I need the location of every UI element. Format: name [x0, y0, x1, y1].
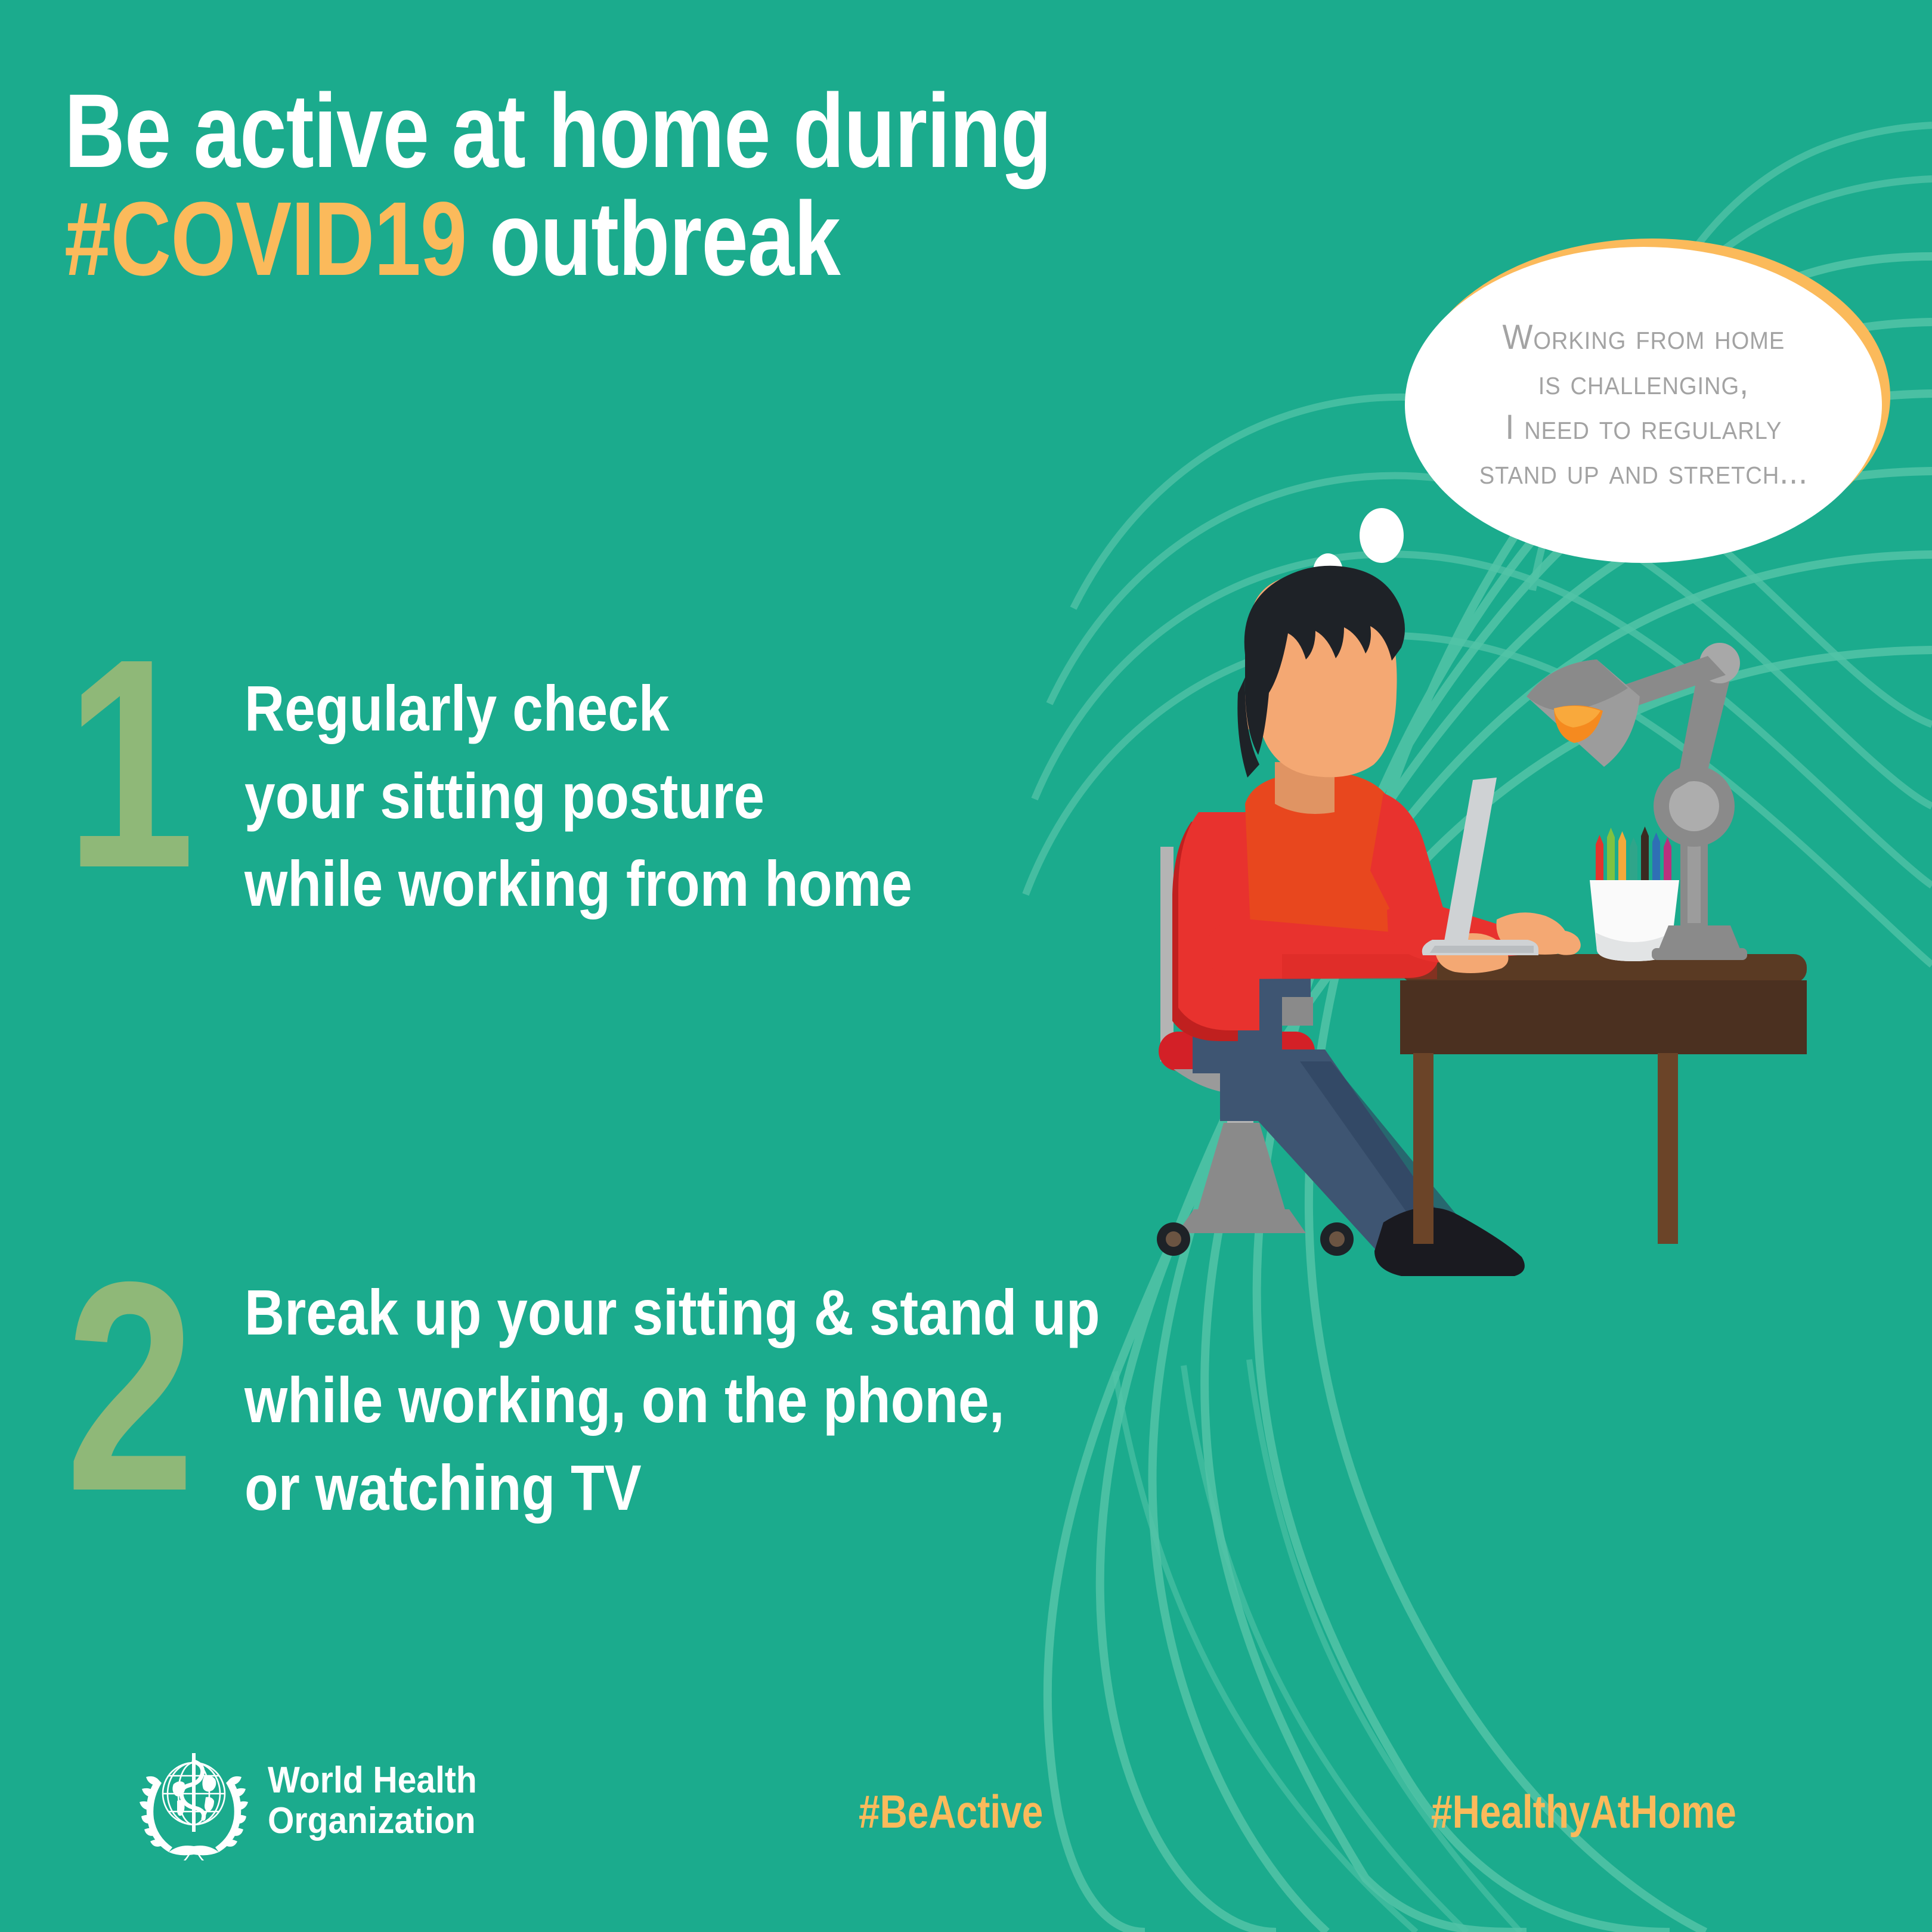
hashtag-beactive: #BeActive	[859, 1785, 1043, 1839]
tip-number-2: 2	[66, 1264, 200, 1509]
shoe	[1374, 1207, 1525, 1276]
tip-2-line-1: Break up your sitting & stand up	[244, 1269, 1100, 1357]
bubble-line-4: stand up and stretch...	[1479, 450, 1807, 494]
bubble-line-3: I need to regularly	[1479, 405, 1807, 450]
desk	[1400, 954, 1807, 1244]
infographic-poster: Be active at home during #COVID19 outbre…	[0, 0, 1932, 1932]
who-logo: World Health Organization	[134, 1741, 495, 1860]
tip-item-2: 2 Break up your sitting & stand up while…	[66, 1264, 1239, 1532]
who-wordmark-line-1: World Health	[268, 1760, 477, 1801]
colored-pencils	[1596, 826, 1671, 885]
tip-2-line-2: while working, on the phone,	[244, 1357, 1100, 1444]
desk-leg-right	[1658, 1053, 1678, 1244]
who-emblem-icon	[134, 1741, 253, 1860]
person-head	[1237, 566, 1405, 814]
thought-bubble: Working from home is challenging, I need…	[1413, 239, 1890, 555]
desk-leg-left	[1413, 1053, 1433, 1244]
bubble-line-1: Working from home	[1479, 315, 1807, 360]
tip-1-line-2: your sitting posture	[244, 753, 912, 840]
tip-text-1: Regularly check your sitting posture whi…	[244, 641, 1021, 928]
bubble-line-2: is challenging,	[1479, 360, 1807, 405]
who-wordmark: World Health Organization	[268, 1760, 477, 1841]
headline-outbreak-word: outbreak	[466, 181, 840, 298]
headline: Be active at home during #COVID19 outbre…	[64, 78, 1317, 294]
headline-line-2: #COVID19 outbreak	[64, 185, 1066, 293]
tip-1-line-1: Regularly check	[244, 665, 912, 753]
illustration-person-working-at-desk	[1103, 537, 1807, 1282]
tip-1-line-3: while working from home	[244, 840, 912, 928]
thought-bubble-text: Working from home is challenging, I need…	[1446, 315, 1841, 495]
tip-number-1: 1	[66, 641, 200, 885]
who-wordmark-line-2: Organization	[268, 1801, 477, 1841]
hashtag-healthyathome: #HealthyAtHome	[1431, 1785, 1736, 1839]
headline-line-1: Be active at home during	[64, 78, 1066, 185]
tip-item-1: 1 Regularly check your sitting posture w…	[66, 641, 1021, 928]
covid19-hashtag: #COVID19	[64, 181, 466, 298]
thought-bubble-body: Working from home is challenging, I need…	[1405, 247, 1882, 563]
tip-2-line-3: or watching TV	[244, 1444, 1100, 1532]
tip-text-2: Break up your sitting & stand up while w…	[244, 1264, 1239, 1532]
